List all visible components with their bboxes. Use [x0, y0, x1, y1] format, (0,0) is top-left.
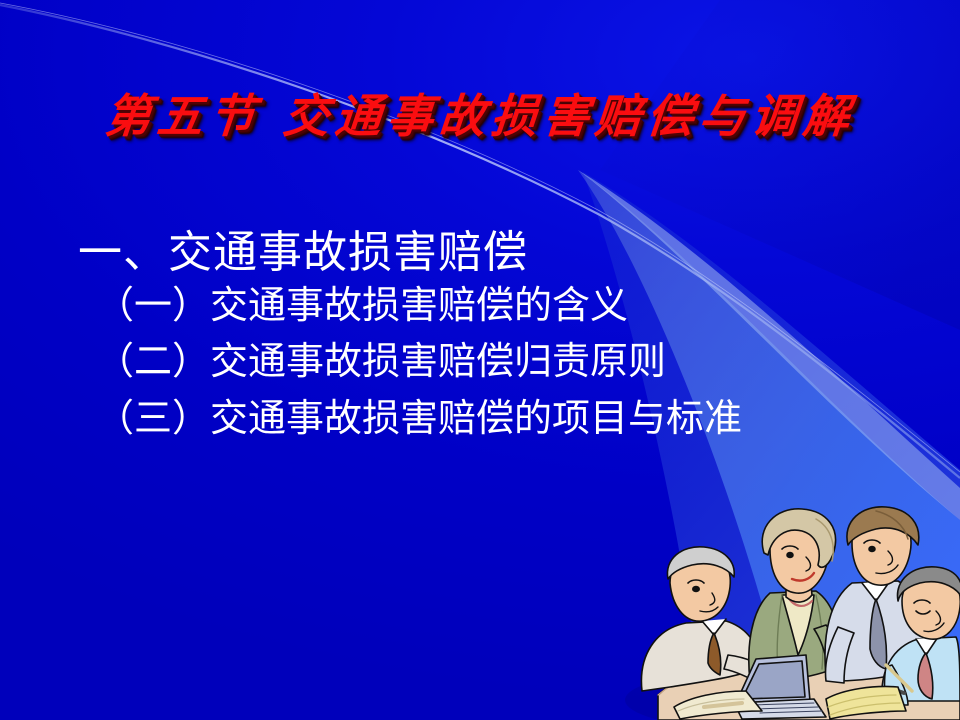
presentation-slide: 第五节 交通事故损害赔偿与调解 一、交通事故损害赔偿 （一）交通事故损害赔偿的含… [0, 0, 960, 720]
slide-title: 第五节 交通事故损害赔偿与调解 [103, 92, 857, 142]
title-block: 第五节 交通事故损害赔偿与调解 [0, 92, 960, 142]
bullet-item-1: （一）交通事故损害赔偿的含义 [96, 278, 938, 334]
bullet-item-3: （三）交通事故损害赔偿的项目与标准 [96, 391, 938, 447]
bullet-item-2: （二）交通事故损害赔偿归责原则 [96, 334, 938, 390]
content-block: 一、交通事故损害赔偿 （一）交通事故损害赔偿的含义 （二）交通事故损害赔偿归责原… [78, 228, 938, 447]
heading-level1: 一、交通事故损害赔偿 [78, 228, 938, 278]
woman-eye [787, 553, 793, 558]
seated-left-eye [693, 587, 699, 592]
standing-man-eye [869, 547, 875, 552]
business-team-meeting-clipart [630, 505, 960, 720]
